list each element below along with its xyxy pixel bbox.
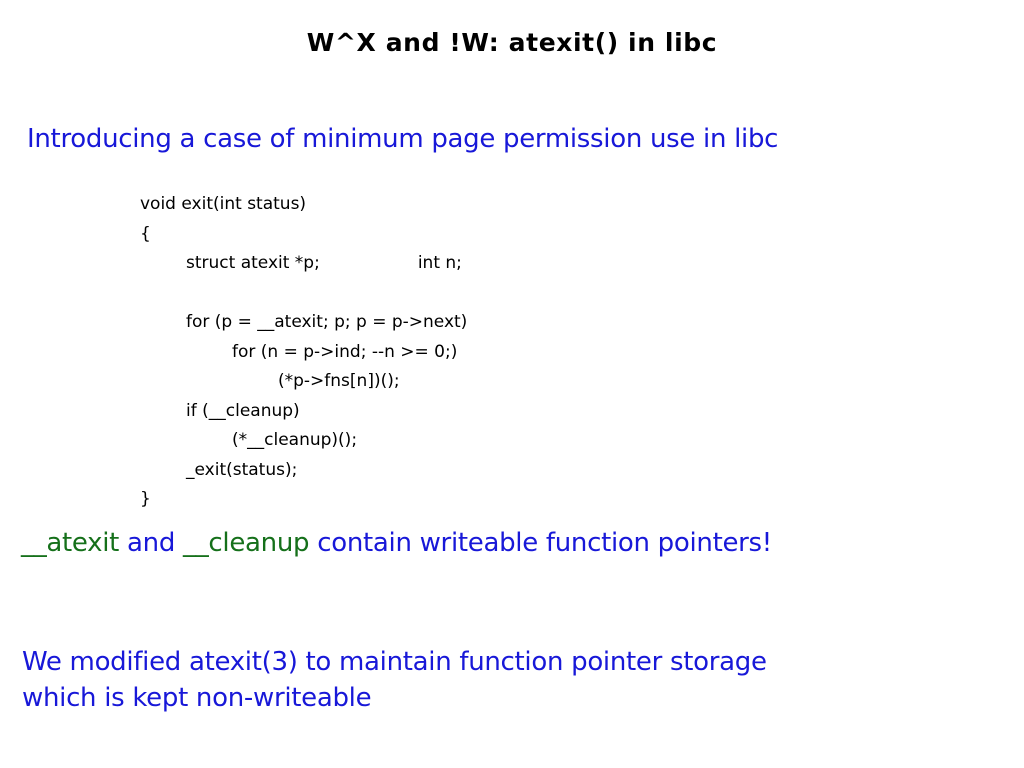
code-line-text: (*p->fns[n])();	[278, 371, 400, 391]
highlight-conjunction: and	[119, 528, 183, 558]
closing-line-1: We modified atexit(3) to maintain functi…	[22, 644, 922, 680]
code-line: void exit(int status)	[140, 190, 467, 220]
highlight-tail: contain writeable function pointers!	[309, 528, 772, 558]
code-line-trailing: int n;	[418, 253, 462, 273]
intro-statement: Introducing a case of minimum page permi…	[27, 124, 778, 154]
code-line-text: void exit(int status)	[140, 194, 306, 214]
code-line-text: }	[140, 489, 151, 509]
code-line-text: struct atexit *p;	[186, 253, 320, 273]
code-line: {	[140, 220, 467, 250]
code-line-text: for (p = __atexit; p; p = p->next)	[186, 312, 467, 332]
code-line-text: _exit(status);	[186, 460, 297, 480]
symbol-cleanup: __cleanup	[183, 528, 309, 558]
code-line: _exit(status);	[140, 456, 467, 486]
code-line: for (p = __atexit; p; p = p->next)	[140, 308, 467, 338]
page-title: W^X and !W: atexit() in libc	[0, 28, 1024, 57]
symbol-atexit: __atexit	[21, 528, 119, 558]
code-line: (*p->fns[n])();	[140, 367, 467, 397]
code-line-text: (*__cleanup)();	[232, 430, 357, 450]
slide-canvas: W^X and !W: atexit() in libc Introducing…	[0, 0, 1024, 768]
code-line-text: for (n = p->ind; --n >= 0;)	[232, 342, 457, 362]
highlight-statement: __atexit and __cleanup contain writeable…	[21, 528, 772, 558]
closing-line-2: which is kept non-writeable	[22, 680, 922, 716]
code-line: for (n = p->ind; --n >= 0;)	[140, 338, 467, 368]
code-line-text: if (__cleanup)	[186, 401, 300, 421]
code-listing: void exit(int status) { struct atexit *p…	[140, 190, 467, 515]
code-line: (*__cleanup)();	[140, 426, 467, 456]
code-line: struct atexit *p;int n;	[140, 249, 467, 279]
code-line-text: {	[140, 224, 151, 244]
code-line: }	[140, 485, 467, 515]
code-line-blank	[140, 279, 467, 309]
code-line: if (__cleanup)	[140, 397, 467, 427]
closing-statement: We modified atexit(3) to maintain functi…	[22, 644, 922, 716]
